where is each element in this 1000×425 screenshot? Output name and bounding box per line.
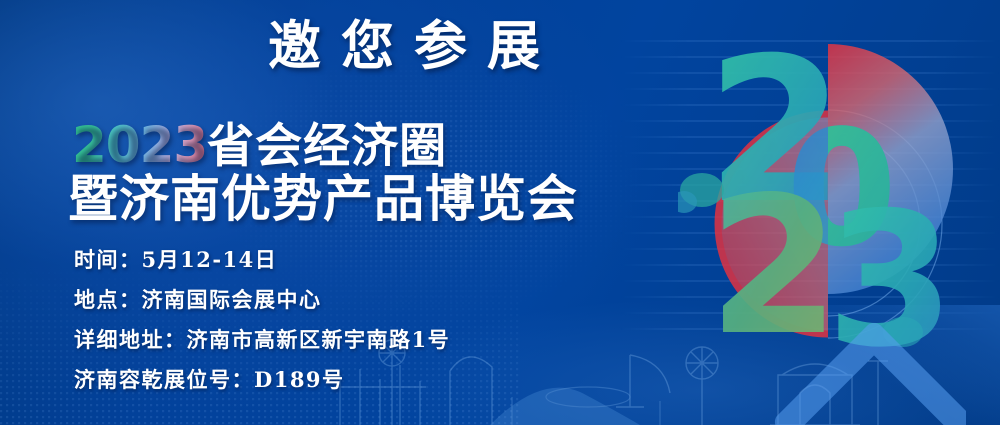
headline: 邀您参展	[268, 20, 560, 73]
event-title-line-1-text: 省会经济圈	[207, 119, 447, 172]
svg-text:3: 3	[826, 172, 955, 374]
detail-row-venue: 地点：济南国际会展中心	[74, 280, 450, 320]
detail-row-booth: 济南容乾展位号：D189号	[74, 360, 450, 400]
detail-row-address: 详细地址：济南市高新区新宇南路1号	[74, 320, 450, 360]
exhibition-invitation-banner: 2 0 0 2 3 邀您参展 2023省会经济圈 暨济南优势产品博览会 时间：5…	[0, 0, 1000, 425]
event-title-line-1: 2023省会经济圈	[72, 120, 447, 170]
logo-2023-mark: 2 0 0 2 3	[678, 14, 978, 374]
event-title-line-2: 暨济南优势产品博览会	[68, 174, 578, 224]
event-year: 2023	[72, 116, 207, 174]
detail-row-time: 时间：5月12-14日	[74, 240, 450, 280]
svg-text:2: 2	[708, 156, 840, 374]
event-details: 时间：5月12-14日 地点：济南国际会展中心 详细地址：济南市高新区新宇南路1…	[74, 240, 450, 400]
